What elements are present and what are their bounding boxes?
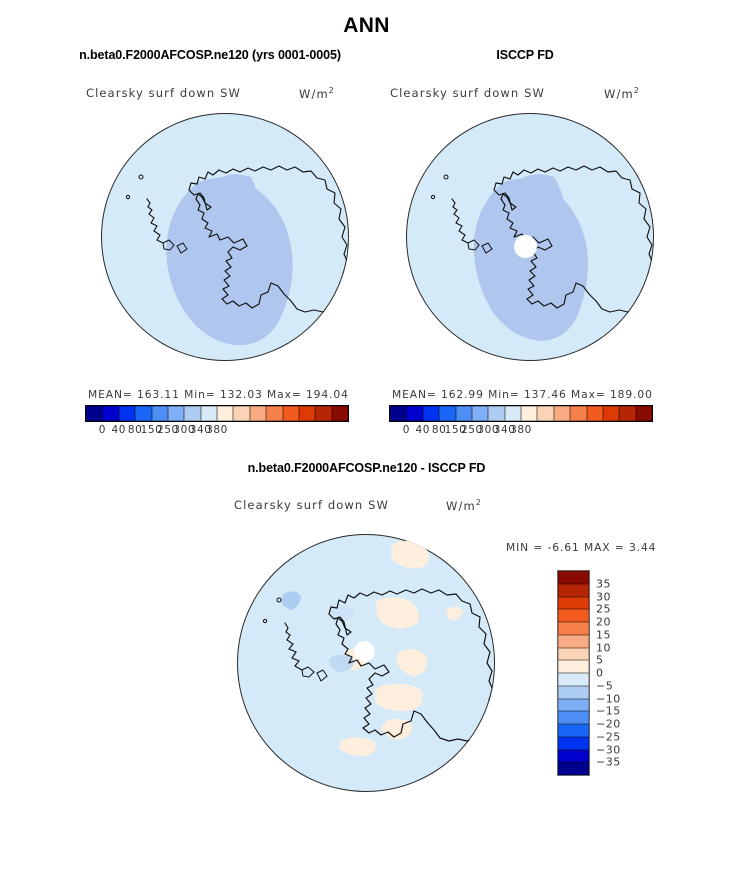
colorbar-swatch-9 <box>233 406 249 421</box>
model-stats: MEAN= 163.11 Min= 132.03 Max= 194.04 <box>88 388 349 401</box>
diff-colorbar-tick-label: 0 <box>596 667 604 680</box>
colorbar-swatch-14 <box>619 406 635 421</box>
colorbar-tick-label: 40 <box>111 424 126 436</box>
diff-panel-title-text: n.beta0.F2000AFCOSP.ne120 - ISCCP FD <box>248 461 486 475</box>
colorbar-swatch-7 <box>505 406 521 421</box>
obs-variable-label: Clearsky surf down SW <box>390 86 545 100</box>
diff-colorbar-swatch-11 <box>558 711 589 724</box>
diff-patch-pos-8 <box>447 607 464 620</box>
model-variable-label: Clearsky surf down SW <box>86 86 241 100</box>
colorbar-swatch-0 <box>86 406 102 421</box>
diff-patch-pos-3 <box>397 649 428 676</box>
diff-colorbar-tick-label: −10 <box>596 692 621 705</box>
diff-colorbar-tick-label: −20 <box>596 718 621 731</box>
diff-patch-pos-4 <box>375 684 423 711</box>
obs-map[interactable] <box>406 113 654 361</box>
diff-colorbar-swatch-12 <box>558 724 589 737</box>
model-units-exponent: 2 <box>329 86 334 95</box>
colorbar-swatch-3 <box>135 406 151 421</box>
diff-colorbar-swatch-7 <box>558 660 589 673</box>
model-units-label: W/m2 <box>299 86 334 101</box>
obs-panel-title-text: ISCCP FD <box>496 48 553 62</box>
diff-island-c <box>277 598 281 602</box>
diff-colorbar-tick-label: −15 <box>596 705 621 718</box>
diff-patch-pos-2 <box>376 597 419 628</box>
diff-island-d <box>263 619 266 622</box>
diff-colorbar-tick-label: −25 <box>596 730 621 743</box>
diff-colorbar-tick-label: 25 <box>596 603 611 616</box>
colorbar-swatch-8 <box>217 406 233 421</box>
diff-colorbar-swatch-5 <box>558 635 589 648</box>
colorbar-swatch-13 <box>299 406 315 421</box>
diff-colorbar-swatch-13 <box>558 737 589 750</box>
obs-island-c <box>444 175 448 179</box>
diff-stats: MIN = -6.61 MAX = 3.44 <box>506 541 656 554</box>
model-map[interactable] <box>101 113 349 361</box>
model-colorbar[interactable] <box>86 406 348 421</box>
colorbar-swatch-12 <box>587 406 603 421</box>
diff-colorbar-swatch-3 <box>558 609 589 622</box>
diff-colorbar-tick-label: −35 <box>596 756 621 769</box>
diff-panel-title: n.beta0.F2000AFCOSP.ne120 - ISCCP FD <box>0 459 733 477</box>
diff-island-a <box>302 667 314 677</box>
colorbar-swatch-5 <box>472 406 488 421</box>
colorbar-swatch-2 <box>423 406 439 421</box>
colorbar-tick-label: 0 <box>403 424 410 436</box>
model-map-graphic <box>101 113 349 361</box>
model-panel-title-text: n.beta0.F2000AFCOSP.ne120 (yrs 0001-0005… <box>79 48 341 62</box>
diff-colorbar-swatch-14 <box>558 750 589 763</box>
diff-patch-neg-1 <box>281 591 301 610</box>
page-title: ANN <box>0 14 733 38</box>
colorbar-swatch-1 <box>102 406 118 421</box>
colorbar-swatch-8 <box>521 406 537 421</box>
obs-colorbar[interactable] <box>390 406 652 421</box>
colorbar-swatch-6 <box>488 406 504 421</box>
colorbar-swatch-4 <box>152 406 168 421</box>
diff-map[interactable] <box>237 534 495 792</box>
model-units-text: W/m <box>299 87 329 101</box>
colorbar-swatch-14 <box>315 406 331 421</box>
diff-units-text: W/m <box>446 499 476 513</box>
diff-pole-data-gap <box>354 641 375 662</box>
colorbar-swatch-1 <box>406 406 422 421</box>
diff-colorbar-tick-label: −30 <box>596 743 621 756</box>
diff-colorbar-tick-label: 20 <box>596 616 611 629</box>
diff-colorbar-swatch-0 <box>558 571 589 584</box>
diff-colorbar-tick-label: 10 <box>596 641 611 654</box>
colorbar-tick-label: 380 <box>206 424 228 436</box>
obs-panel-title: ISCCP FD <box>330 46 720 64</box>
obs-colorbar-ticks: 04080150250300340380 <box>390 424 652 438</box>
diff-colorbar-swatch-8 <box>558 673 589 686</box>
colorbar-swatch-15 <box>636 406 652 421</box>
obs-island-d <box>431 195 434 198</box>
diff-island-b <box>317 670 327 681</box>
diff-colorbar-swatch-6 <box>558 648 589 661</box>
obs-pole-data-gap <box>514 235 537 258</box>
diff-colorbar-tick-label: −5 <box>596 679 613 692</box>
obs-units-label: W/m2 <box>604 86 639 101</box>
colorbar-swatch-2 <box>119 406 135 421</box>
colorbar-tick-label: 0 <box>99 424 106 436</box>
colorbar-swatch-9 <box>537 406 553 421</box>
obs-units-text: W/m <box>604 87 634 101</box>
diff-colorbar-tick-label: 15 <box>596 628 611 641</box>
diff-units-label: W/m2 <box>446 498 481 513</box>
model-island-d <box>126 195 129 198</box>
obs-stats: MEAN= 162.99 Min= 137.46 Max= 189.00 <box>392 388 653 401</box>
colorbar-swatch-15 <box>332 406 348 421</box>
diff-units-exponent: 2 <box>476 498 481 507</box>
colorbar-swatch-11 <box>570 406 586 421</box>
diff-colorbar-swatch-4 <box>558 622 589 635</box>
diff-colorbar-swatch-15 <box>558 762 589 775</box>
colorbar-swatch-12 <box>283 406 299 421</box>
obs-units-exponent: 2 <box>634 86 639 95</box>
diff-colorbar-swatch-10 <box>558 699 589 712</box>
colorbar-swatch-0 <box>390 406 406 421</box>
diff-peninsula <box>285 623 302 670</box>
diff-colorbar-swatch-1 <box>558 584 589 597</box>
colorbar-swatch-3 <box>439 406 455 421</box>
colorbar-swatch-7 <box>201 406 217 421</box>
colorbar-swatch-6 <box>184 406 200 421</box>
diff-colorbar-tick-label: 35 <box>596 577 611 590</box>
diff-map-graphic <box>237 534 495 792</box>
model-island-c <box>139 175 143 179</box>
colorbar-swatch-4 <box>456 406 472 421</box>
diff-colorbar-tick-label: 5 <box>596 654 604 667</box>
diff-colorbar-swatch-9 <box>558 686 589 699</box>
colorbar-swatch-11 <box>266 406 282 421</box>
colorbar-swatch-5 <box>168 406 184 421</box>
model-colorbar-ticks: 04080150250300340380 <box>86 424 348 438</box>
diff-patch-pos-1 <box>391 541 429 568</box>
diff-colorbar[interactable] <box>558 571 589 775</box>
colorbar-tick-label: 40 <box>415 424 430 436</box>
diff-variable-label: Clearsky surf down SW <box>234 498 389 512</box>
diff-patch-pos-6 <box>339 737 376 756</box>
page-title-text: ANN <box>343 14 389 37</box>
model-peninsula <box>147 199 163 243</box>
colorbar-swatch-13 <box>603 406 619 421</box>
diff-colorbar-swatch-2 <box>558 597 589 610</box>
obs-peninsula <box>452 199 468 243</box>
colorbar-swatch-10 <box>554 406 570 421</box>
colorbar-swatch-10 <box>250 406 266 421</box>
colorbar-tick-label: 380 <box>510 424 532 436</box>
diff-colorbar-tick-label: 30 <box>596 590 611 603</box>
